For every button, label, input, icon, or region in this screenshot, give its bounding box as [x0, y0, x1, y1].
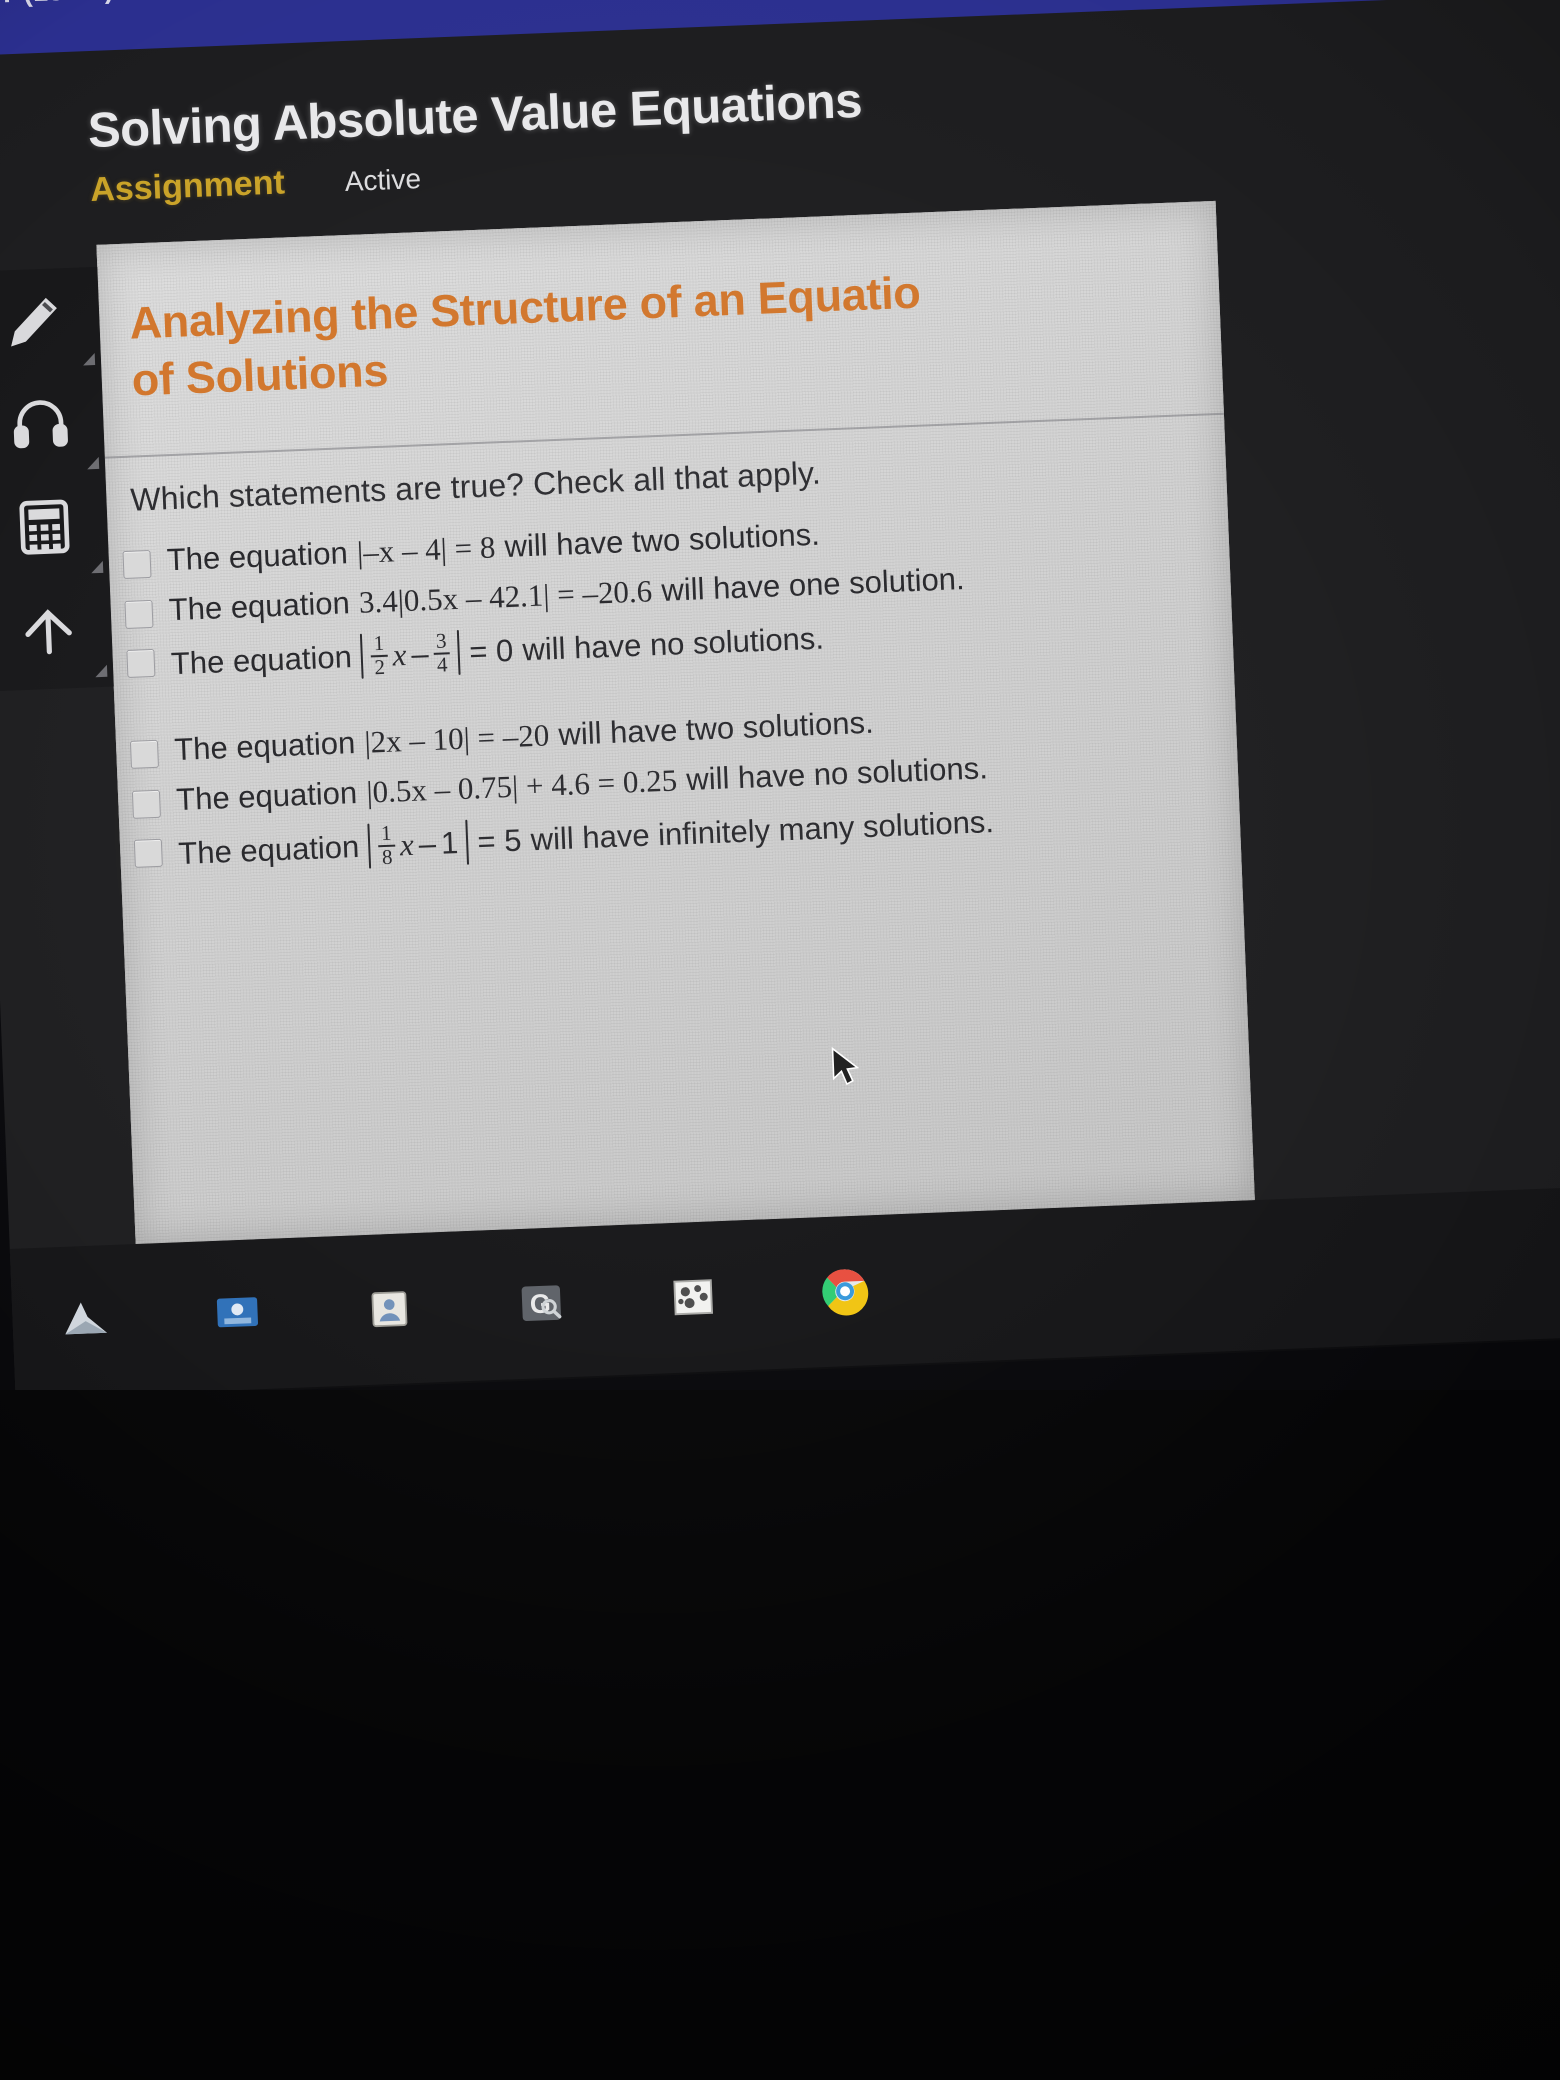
constant: 1	[440, 825, 459, 861]
choice-lead: The equation	[168, 585, 350, 628]
fraction-numerator: 3	[433, 631, 450, 653]
choice-checkbox[interactable]	[122, 550, 151, 579]
choice-checkbox[interactable]	[130, 740, 159, 769]
fraction-denominator: 8	[378, 844, 395, 868]
choice-trail: will have two solutions.	[558, 705, 874, 753]
choice-trail: will have no solutions.	[522, 620, 825, 667]
desk-surround-lower	[0, 1390, 1560, 2080]
status-badge: Active	[344, 163, 421, 198]
fraction-denominator: 4	[433, 652, 450, 676]
google-search-icon[interactable]: G	[507, 1273, 575, 1334]
arrow-up-icon	[16, 598, 81, 667]
choice-checkbox[interactable]	[134, 839, 163, 868]
choice-checkbox[interactable]	[124, 600, 153, 629]
mouse-cursor	[830, 1045, 862, 1095]
rail-item-calculator[interactable]	[0, 475, 110, 584]
choice-lead: The equation	[178, 829, 360, 872]
question-card: Analyzing the Structure of an Equatio of…	[96, 201, 1254, 1244]
choice-list: The equation |–x – 4| = 8 will have two …	[122, 501, 1235, 892]
choice-text: The equation |–x – 4| = 8 will have two …	[166, 517, 820, 578]
pencil-icon	[4, 287, 69, 356]
fraction-denominator: 2	[371, 654, 388, 678]
section-heading: Analyzing the Structure of an Equatio of…	[128, 249, 1254, 409]
absolute-value-group: 1 2 x – 3 4	[360, 630, 461, 679]
variable: x	[392, 637, 407, 673]
rail-item-audio[interactable]	[0, 371, 105, 480]
operator: –	[411, 636, 430, 672]
abs-bar-left	[360, 634, 364, 679]
rail-item-scroll-up[interactable]	[0, 579, 114, 688]
choice-trail: will have two solutions.	[504, 517, 820, 565]
fraction-numerator: 1	[370, 633, 387, 655]
window-title-text: HT (18-19)	[0, 0, 115, 9]
abs-bar-left	[368, 824, 372, 869]
choice-lead: The equation	[166, 535, 348, 578]
fraction: 1 8	[378, 823, 396, 868]
choice-expression: 3.4|0.5x – 42.1| = –20.6	[358, 573, 653, 620]
divider	[105, 413, 1224, 459]
choice-rhs: = 5	[477, 823, 522, 860]
variable: x	[399, 827, 414, 863]
abs-bar-right	[465, 820, 469, 865]
svg-text:G: G	[529, 1288, 551, 1319]
contact-card-icon[interactable]	[355, 1279, 423, 1340]
choice-lead: The equation	[176, 775, 358, 818]
choice-rhs: = 0	[469, 633, 514, 670]
headphones-icon	[8, 390, 73, 459]
monitor-photograph: HT (18-19) Solving Absolute Value Equati…	[0, 0, 1560, 2080]
fraction-numerator: 1	[378, 823, 395, 845]
abs-bar-right	[457, 630, 461, 675]
choice-expression: |0.5x – 0.75| + 4.6 = 0.25	[366, 762, 678, 810]
choice-trail: will have one solution.	[661, 561, 965, 609]
fraction: 3 4	[433, 631, 451, 676]
fraction: 1 2	[370, 633, 388, 678]
screen-content: HT (18-19) Solving Absolute Value Equati…	[0, 0, 1560, 1401]
blue-app-icon[interactable]	[203, 1285, 271, 1346]
choice-text: The equation 1 2 x –	[170, 616, 825, 686]
choice-lead: The equation	[170, 639, 352, 682]
operator: –	[418, 826, 437, 862]
rail-item-pencil[interactable]	[0, 267, 101, 376]
photo-tile-icon[interactable]	[659, 1267, 727, 1328]
assignment-type-label: Assignment	[90, 163, 286, 210]
tool-rail[interactable]	[0, 267, 114, 692]
choice-checkbox[interactable]	[132, 790, 161, 819]
chrome-icon[interactable]	[811, 1261, 879, 1322]
choice-expression: |–x – 4| = 8	[356, 529, 496, 570]
choice-lead: The equation	[174, 725, 356, 768]
file-explorer-icon[interactable]	[52, 1291, 120, 1352]
choice-expression: |2x – 10| = –20	[364, 718, 550, 761]
question-prompt: Which statements are true? Check all tha…	[130, 455, 822, 519]
choice-trail: will have infinitely many solutions.	[530, 804, 995, 858]
absolute-value-group: 1 8 x – 1	[368, 820, 469, 869]
calculator-icon	[12, 494, 77, 563]
choice-checkbox[interactable]	[126, 649, 155, 678]
choice-trail: will have no solutions.	[686, 750, 989, 797]
